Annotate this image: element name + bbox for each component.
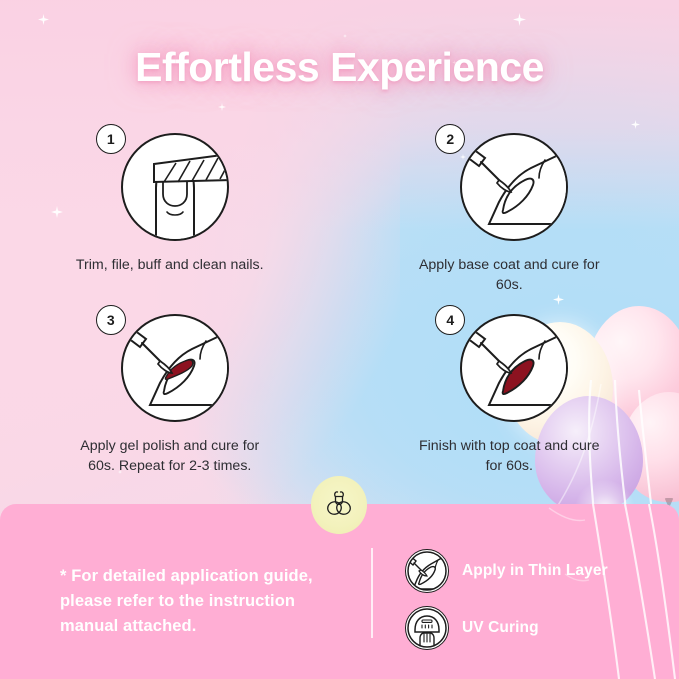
step-3-art: 3 [110, 309, 230, 427]
step-1: 1 [0, 128, 340, 295]
brush-base-coat-icon [459, 132, 569, 242]
steps-row-2: 3 [0, 309, 679, 476]
thin-layer-brush-icon [405, 549, 449, 593]
step-4-caption: Finish with top coat and cure for 60s. [409, 437, 609, 476]
step-4: 4 Finish with top [340, 309, 679, 476]
brush-top-coat-icon [459, 313, 569, 423]
step-1-caption: Trim, file, buff and clean nails. [76, 256, 264, 276]
steps-row-1: 1 [0, 128, 679, 295]
page-title: Effortless Experience [0, 44, 679, 91]
feature-label-uv-curing: UV Curing [462, 619, 539, 637]
step-1-art: 1 [110, 128, 230, 246]
step-2-art: 2 [449, 128, 569, 246]
promo-infographic: Effortless Experience 1 [0, 0, 679, 679]
step-3: 3 [0, 309, 340, 476]
step-1-number: 1 [96, 124, 126, 154]
brush-gel-polish-icon [120, 313, 230, 423]
steps-grid: 1 [0, 128, 679, 476]
step-4-art: 4 [449, 309, 569, 427]
feature-uv-curing: UV Curing [405, 606, 608, 650]
step-3-number: 3 [96, 305, 126, 335]
bee-logo-icon [324, 490, 354, 520]
feature-apply-thin-layer: Apply in Thin Layer [405, 549, 608, 593]
brand-badge [311, 476, 367, 534]
footer-divider [371, 548, 373, 638]
footer-feature-list: Apply in Thin Layer [405, 549, 608, 663]
footer-note: * For detailed application guide, please… [60, 564, 350, 639]
feature-label-thin-layer: Apply in Thin Layer [462, 562, 608, 580]
step-2: 2 Apply base coat [340, 128, 679, 295]
nail-file-icon [120, 132, 230, 242]
step-2-caption: Apply base coat and cure for 60s. [409, 256, 609, 295]
uv-lamp-icon [405, 606, 449, 650]
step-3-caption: Apply gel polish and cure for 60s. Repea… [70, 437, 270, 476]
